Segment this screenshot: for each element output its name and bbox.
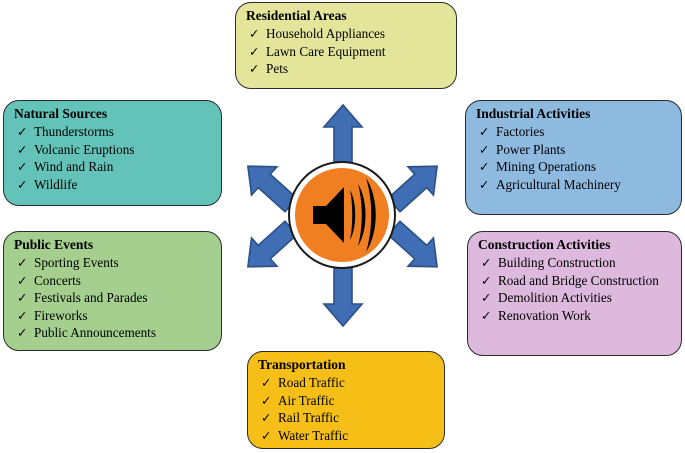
node-title: Natural Sources (14, 106, 213, 122)
list-item: ✓Power Plants (475, 141, 673, 159)
list-item: ✓Sporting Events (13, 254, 213, 272)
check-icon: ✓ (245, 60, 266, 78)
list-item-label: Volcanic Eruptions (34, 141, 213, 159)
list-item-label: Wind and Rain (34, 158, 213, 176)
node-item-list: ✓Factories ✓Power Plants ✓Mining Operati… (475, 123, 673, 193)
check-icon: ✓ (13, 254, 34, 272)
check-icon: ✓ (13, 272, 34, 290)
check-icon: ✓ (477, 254, 498, 272)
node-title: Transportation (258, 357, 436, 373)
list-item: ✓Building Construction (477, 254, 673, 272)
check-icon: ✓ (13, 307, 34, 325)
list-item-label: Demolition Activities (498, 289, 673, 307)
list-item-label: Road and Bridge Construction (498, 272, 673, 290)
check-icon: ✓ (257, 392, 278, 410)
node-transportation[interactable]: Transportation ✓Road Traffic ✓Air Traffi… (247, 351, 445, 449)
list-item-label: Building Construction (498, 254, 673, 272)
list-item: ✓Renovation Work (477, 307, 673, 325)
list-item-label: Household Appliances (266, 25, 448, 43)
node-title: Industrial Activities (476, 106, 673, 122)
list-item: ✓Factories (475, 123, 673, 141)
check-icon: ✓ (257, 409, 278, 427)
list-item: ✓Water Traffic (257, 427, 436, 445)
list-item-label: Factories (496, 123, 673, 141)
list-item: ✓Public Announcements (13, 324, 213, 342)
check-icon: ✓ (475, 176, 496, 194)
list-item-label: Mining Operations (496, 158, 673, 176)
node-industrial-activities[interactable]: Industrial Activities ✓Factories ✓Power … (465, 100, 682, 215)
list-item: ✓Festivals and Parades (13, 289, 213, 307)
list-item-label: Public Announcements (34, 324, 213, 342)
arrow-to-transportation (324, 268, 362, 326)
list-item: ✓Fireworks (13, 307, 213, 325)
list-item-label: Road Traffic (278, 374, 436, 392)
list-item: ✓Thunderstorms (13, 123, 213, 141)
check-icon: ✓ (475, 123, 496, 141)
center-node (288, 161, 396, 269)
diagram-canvas: Residential Areas ✓Household Appliances … (0, 0, 685, 453)
list-item-label: Agricultural Machinery (496, 176, 673, 194)
check-icon: ✓ (257, 427, 278, 445)
list-item: ✓Concerts (13, 272, 213, 290)
check-icon: ✓ (13, 158, 34, 176)
list-item-label: Lawn Care Equipment (266, 43, 448, 61)
check-icon: ✓ (477, 289, 498, 307)
check-icon: ✓ (13, 289, 34, 307)
list-item: ✓Household Appliances (245, 25, 448, 43)
node-title: Construction Activities (478, 237, 673, 253)
check-icon: ✓ (245, 43, 266, 61)
list-item: ✓Agricultural Machinery (475, 176, 673, 194)
list-item: ✓Demolition Activities (477, 289, 673, 307)
node-natural-sources[interactable]: Natural Sources ✓Thunderstorms ✓Volcanic… (3, 100, 222, 206)
node-item-list: ✓Sporting Events ✓Concerts ✓Festivals an… (13, 254, 213, 342)
list-item-label: Renovation Work (498, 307, 673, 325)
check-icon: ✓ (13, 123, 34, 141)
check-icon: ✓ (477, 272, 498, 290)
list-item-label: Wildlife (34, 176, 213, 194)
list-item: ✓Lawn Care Equipment (245, 43, 448, 61)
speaker-sound-icon (295, 168, 389, 262)
list-item: ✓Road Traffic (257, 374, 436, 392)
check-icon: ✓ (475, 141, 496, 159)
node-public-events[interactable]: Public Events ✓Sporting Events ✓Concerts… (3, 231, 222, 351)
node-item-list: ✓Household Appliances ✓Lawn Care Equipme… (245, 25, 448, 78)
check-icon: ✓ (245, 25, 266, 43)
list-item-label: Air Traffic (278, 392, 436, 410)
check-icon: ✓ (13, 141, 34, 159)
list-item-label: Water Traffic (278, 427, 436, 445)
list-item: ✓Wildlife (13, 176, 213, 194)
arrow-to-residential (324, 105, 362, 163)
list-item-label: Thunderstorms (34, 123, 213, 141)
list-item-label: Pets (266, 60, 448, 78)
list-item-label: Festivals and Parades (34, 289, 213, 307)
check-icon: ✓ (477, 307, 498, 325)
list-item: ✓Volcanic Eruptions (13, 141, 213, 159)
node-title: Public Events (14, 237, 213, 253)
list-item-label: Rail Traffic (278, 409, 436, 427)
node-item-list: ✓Building Construction ✓Road and Bridge … (477, 254, 673, 324)
list-item: ✓Pets (245, 60, 448, 78)
check-icon: ✓ (475, 158, 496, 176)
list-item: ✓Road and Bridge Construction (477, 272, 673, 290)
node-residential-areas[interactable]: Residential Areas ✓Household Appliances … (235, 2, 457, 89)
node-construction-activities[interactable]: Construction Activities ✓Building Constr… (467, 231, 682, 356)
check-icon: ✓ (13, 324, 34, 342)
list-item-label: Sporting Events (34, 254, 213, 272)
list-item-label: Concerts (34, 272, 213, 290)
list-item: ✓Mining Operations (475, 158, 673, 176)
node-title: Residential Areas (246, 8, 448, 24)
list-item: ✓Air Traffic (257, 392, 436, 410)
list-item-label: Power Plants (496, 141, 673, 159)
list-item: ✓Wind and Rain (13, 158, 213, 176)
list-item: ✓Rail Traffic (257, 409, 436, 427)
check-icon: ✓ (13, 176, 34, 194)
check-icon: ✓ (257, 374, 278, 392)
node-item-list: ✓Road Traffic ✓Air Traffic ✓Rail Traffic… (257, 374, 436, 444)
list-item-label: Fireworks (34, 307, 213, 325)
node-item-list: ✓Thunderstorms ✓Volcanic Eruptions ✓Wind… (13, 123, 213, 193)
